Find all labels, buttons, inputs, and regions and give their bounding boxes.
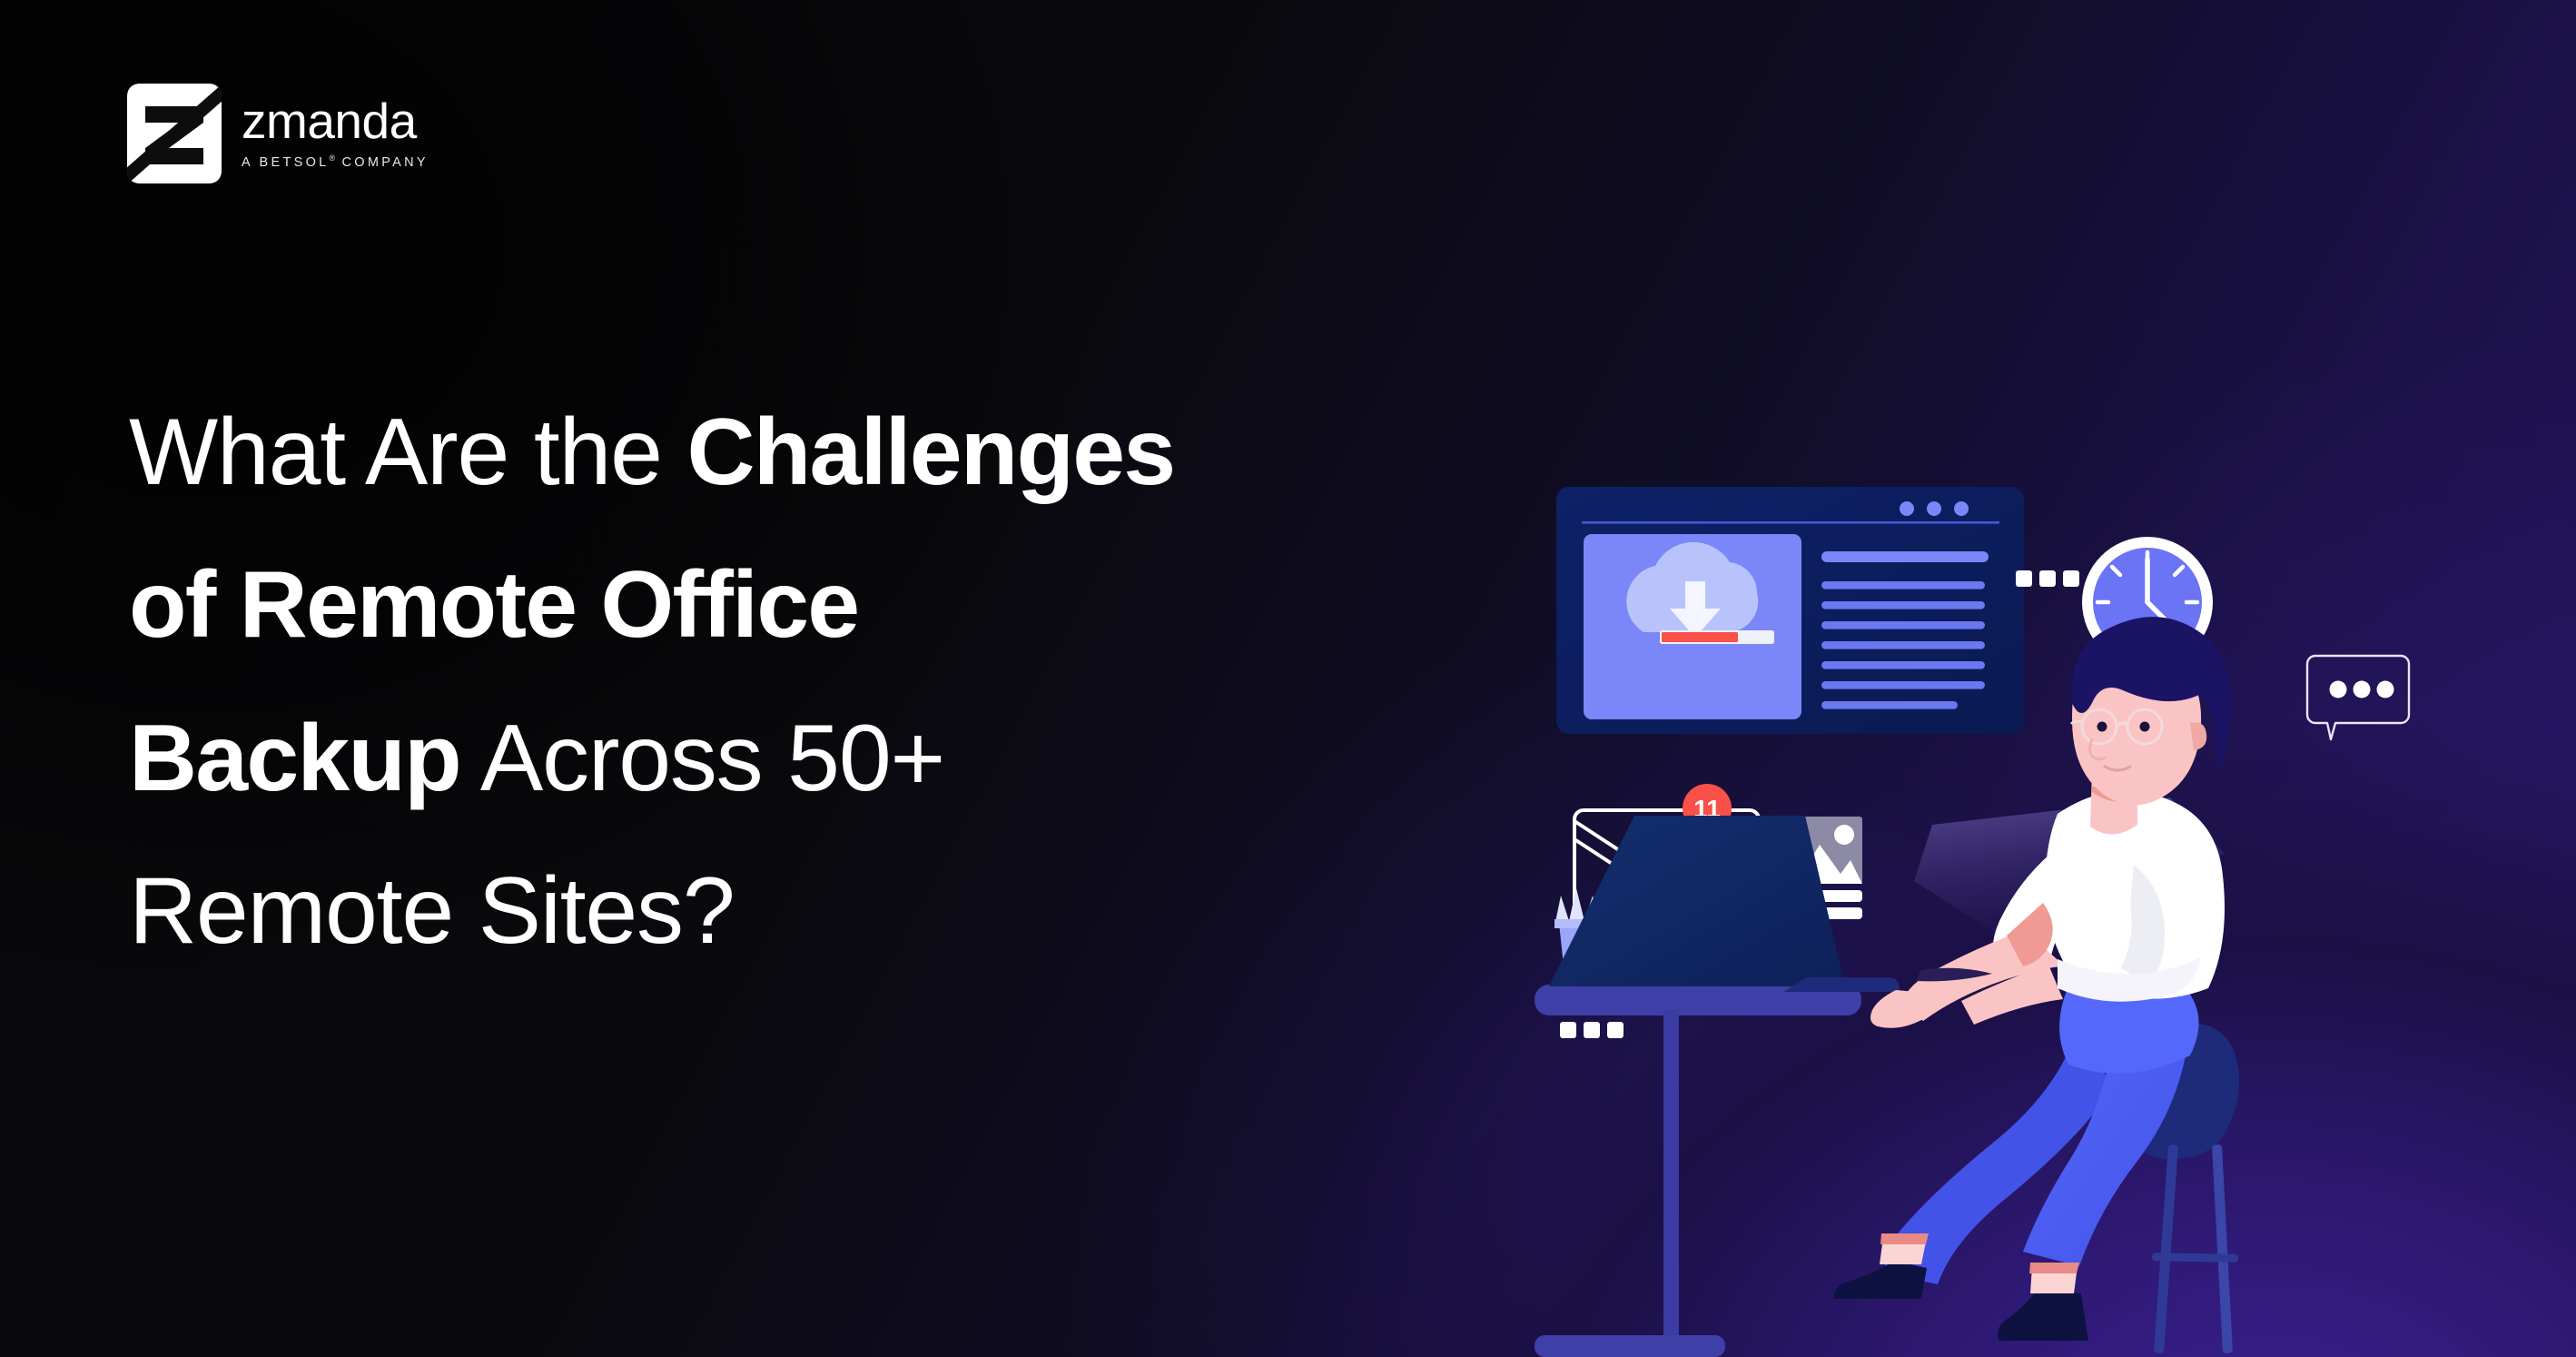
three-squares-icon-bottom [1560,1022,1624,1038]
logo-tagline: A BETSOL® COMPANY [242,154,429,170]
headline-line-1: What Are the Challenges [129,376,1545,529]
headline-line2-bold: of Remote Office [129,552,858,658]
headline-line3-light: Across 50+ [460,706,944,811]
zmanda-logo[interactable]: zmanda A BETSOL® COMPANY [127,84,429,183]
headline-line4-light: Remote Sites? [129,858,735,964]
headline-line1-light: What Are the [129,400,687,505]
logo-tagline-suffix: COMPANY [342,155,429,170]
desk-icon [1535,985,1861,1357]
zmanda-z-mark-icon [127,84,222,183]
logo-tagline-prefix: A BETSOL [242,155,330,170]
headline-line3-bold: Backup [129,706,460,811]
window-titlebar-dots [1900,501,1969,516]
headline-line-4: Remote Sites? [129,835,1545,987]
hero-illustration: 11 [1535,454,2576,1357]
hero-banner: zmanda A BETSOL® COMPANY What Are the Ch… [0,0,2576,1357]
logo-text-block: zmanda A BETSOL® COMPANY [242,97,429,169]
logo-wordmark: zmanda [242,97,429,144]
registered-mark-icon: ® [330,154,336,163]
chat-bubble-icon [2307,656,2409,739]
three-squares-icon-top [2016,570,2079,587]
browser-window-icon [1556,487,2024,734]
headline-line-2: of Remote Office [129,529,1545,681]
headline-line-3: Backup Across 50+ [129,682,1545,835]
headline-line1-bold: Challenges [687,400,1175,505]
page-title: What Are the Challenges of Remote Office… [129,376,1545,988]
